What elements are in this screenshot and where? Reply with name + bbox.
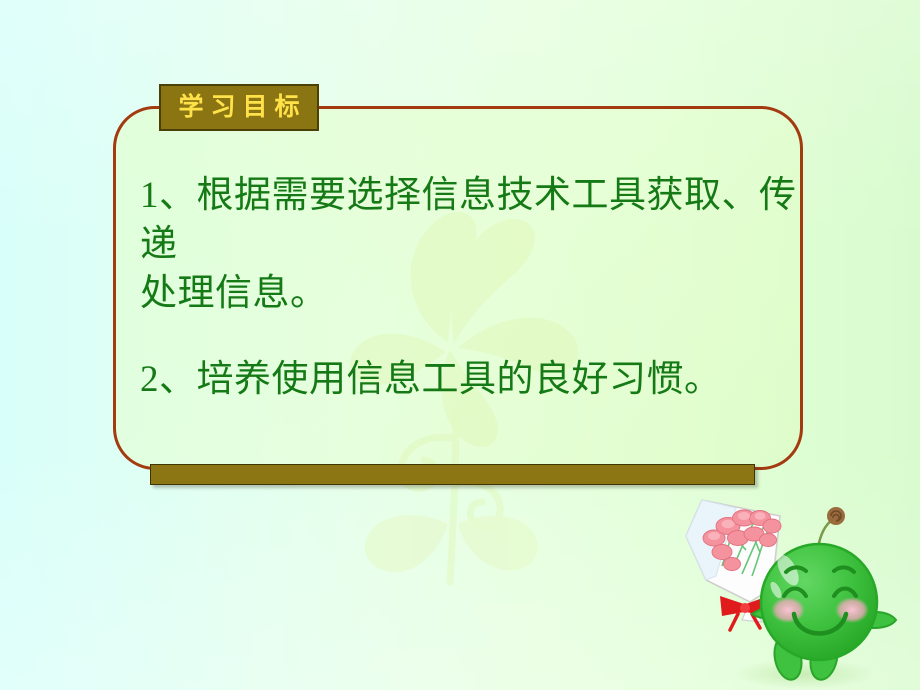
- mascot-ground-shadow: [732, 659, 876, 689]
- slide-canvas: 学习目标 1、根据需要选择信息技术工具获取、传递 处理信息。 2、培养使用信息工…: [0, 0, 920, 690]
- title-badge: 学习目标: [159, 84, 319, 131]
- objective-item-2: 2、培养使用信息工具的良好习惯。: [140, 356, 810, 405]
- bottom-accent-bar: [150, 464, 755, 485]
- mascot-stem-icon: [818, 507, 845, 548]
- mascot-cheek-left: [771, 597, 805, 623]
- objective-item-1: 1、根据需要选择信息技术工具获取、传递 处理信息。: [140, 172, 810, 318]
- mascot-illustration: [676, 492, 920, 690]
- title-badge-label: 学习目标: [171, 95, 306, 120]
- objectives-text-block: 1、根据需要选择信息技术工具获取、传递 处理信息。 2、培养使用信息工具的良好习…: [140, 172, 810, 405]
- mascot-cheek-right: [835, 597, 869, 623]
